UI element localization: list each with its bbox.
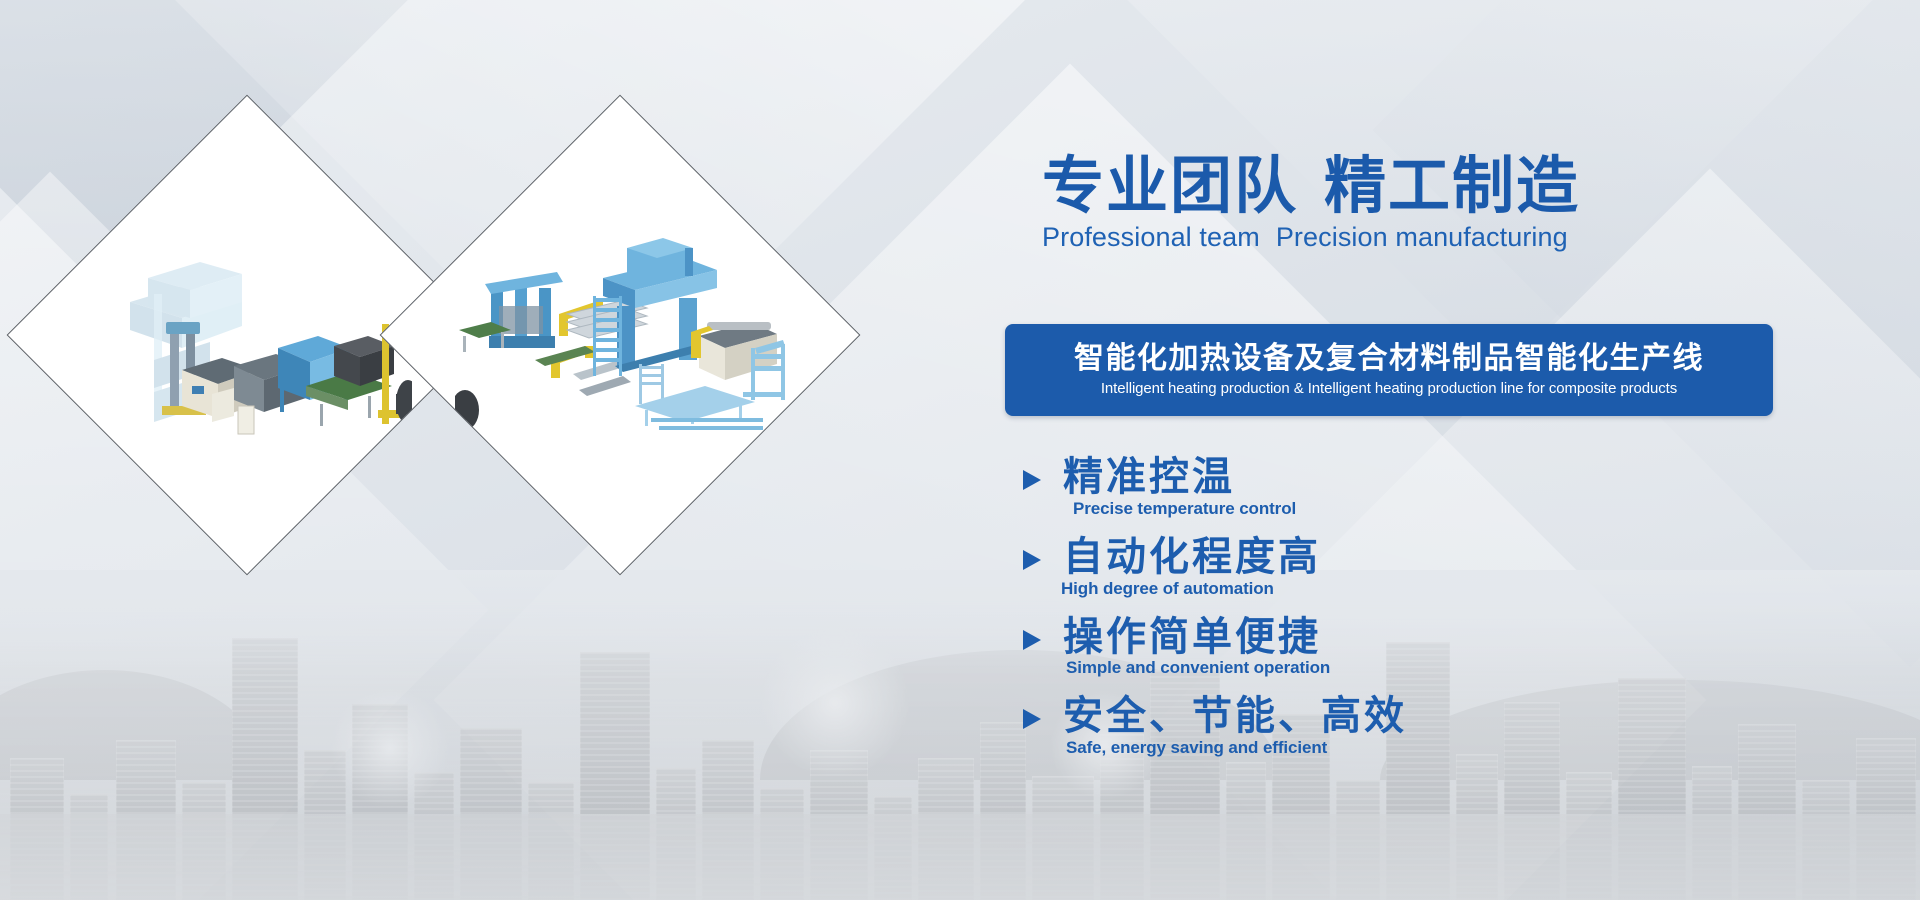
headline-en-part1: Professional team — [1042, 222, 1260, 252]
feature-item: 操作简单便捷 Simple and convenient operation — [1021, 615, 1721, 679]
product-title-banner: 智能化加热设备及复合材料制品智能化生产线 Intelligent heating… — [1005, 324, 1773, 416]
light-flare — [760, 628, 910, 778]
headline-chinese: 专业团队精工制造 — [1042, 155, 1580, 217]
banner-title-chinese: 智能化加热设备及复合材料制品智能化生产线 — [1074, 343, 1704, 375]
headline-block: 专业团队精工制造 Professional teamPrecision manu… — [1042, 155, 1580, 253]
feature-label-english: Precise temperature control — [1073, 499, 1296, 519]
triangle-right-icon — [1021, 707, 1043, 731]
feature-label-english: High degree of automation — [1061, 579, 1321, 599]
feature-item: 精准控温 Precise temperature control — [1021, 455, 1721, 519]
hero-banner: 专业团队精工制造 Professional teamPrecision manu… — [0, 0, 1920, 900]
light-flare — [330, 688, 450, 808]
feature-label-chinese: 自动化程度高 — [1063, 535, 1321, 580]
triangle-right-icon — [1021, 548, 1043, 572]
feature-list: 精准控温 Precise temperature control 自动化程度高 … — [1021, 455, 1721, 774]
triangle-right-icon — [1021, 628, 1043, 652]
headline-english: Professional teamPrecision manufacturing — [1042, 223, 1580, 253]
feature-item: 安全、节能、高效 Safe, energy saving and efficie… — [1021, 694, 1721, 758]
feature-label-english: Simple and convenient operation — [1066, 658, 1330, 678]
headline-cn-part2: 精工制造 — [1324, 149, 1580, 222]
banner-title-english: Intelligent heating production & Intelli… — [1101, 380, 1677, 397]
headline-en-part2: Precision manufacturing — [1276, 222, 1568, 252]
feature-label-english: Safe, energy saving and efficient — [1066, 738, 1407, 758]
product-image-diamond-right — [380, 95, 861, 576]
heating-equipment-render — [82, 210, 412, 460]
triangle-right-icon — [1021, 468, 1043, 492]
headline-cn-part1: 专业团队 — [1042, 149, 1298, 222]
feature-item: 自动化程度高 High degree of automation — [1021, 535, 1721, 599]
feature-label-chinese: 操作简单便捷 — [1063, 615, 1330, 660]
text-content-column: 专业团队精工制造 Professional teamPrecision manu… — [1005, 0, 1905, 900]
composite-production-line-render — [455, 210, 785, 460]
feature-label-chinese: 安全、节能、高效 — [1063, 694, 1407, 739]
feature-label-chinese: 精准控温 — [1063, 455, 1296, 500]
